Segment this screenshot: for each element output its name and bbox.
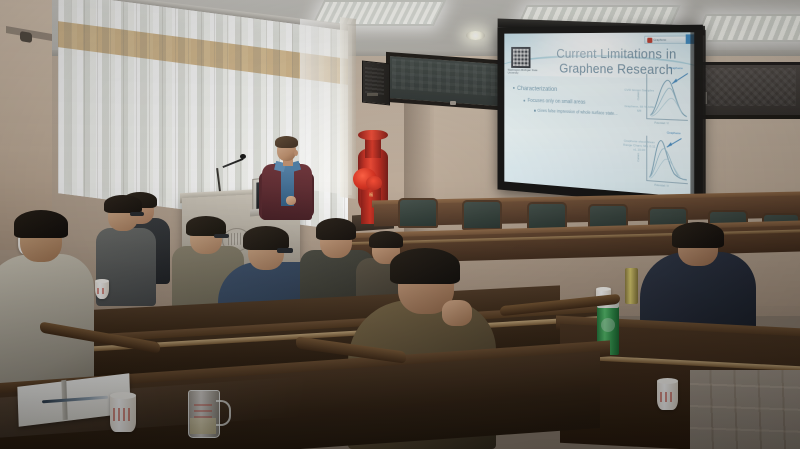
glass-mug-decoration xyxy=(194,404,212,418)
presenter-hair xyxy=(275,136,298,148)
thermos-label xyxy=(601,318,615,332)
glass-mug-contents xyxy=(190,418,216,434)
plot-annotation: Graphene xyxy=(669,66,683,70)
presenter-ear xyxy=(294,150,298,156)
audience-hair xyxy=(390,248,460,284)
audience-hair xyxy=(104,195,142,213)
paper-cup-decoration xyxy=(660,392,675,402)
plot-y-label: Current xyxy=(637,153,640,162)
red-flower-decoration xyxy=(366,176,382,190)
plot-y-label: Current xyxy=(637,91,640,100)
slide-bullet-2: Focuses only on small areas xyxy=(523,98,622,108)
presenter-hand xyxy=(286,196,296,205)
projected-slide: Washington Michigan State University Gra… xyxy=(504,32,694,197)
paper-cup-decoration xyxy=(113,408,132,421)
audience-hair xyxy=(316,218,356,240)
slide-corner-badge: Graphene xyxy=(644,35,688,43)
audience-hair xyxy=(14,210,68,238)
plot-arrow-icon xyxy=(667,72,690,87)
bullet-dot-icon xyxy=(523,99,525,101)
eyeglasses-icon xyxy=(214,234,229,238)
screen-frame-right-edge xyxy=(690,30,705,201)
audience-hair xyxy=(186,216,226,236)
university-crest-icon xyxy=(511,47,530,68)
plot-annotation: Graphene xyxy=(667,130,681,135)
plot-x-label: Potential / V xyxy=(654,184,668,188)
paper-cup-rim xyxy=(110,392,136,399)
lecture-room-photo: Washington Michigan State University Gra… xyxy=(0,0,800,449)
vase-rim xyxy=(358,130,388,140)
floor-tiles xyxy=(690,370,800,449)
voltammogram-plot-top: Graphene Potential / V Current xyxy=(646,74,688,121)
badge-mark-icon xyxy=(647,37,652,42)
empty-chair xyxy=(398,198,438,228)
voltammogram-plot-bottom: Graphene Potential / V Current xyxy=(646,136,688,185)
yellow-bottle xyxy=(625,268,638,304)
empty-chair xyxy=(462,200,502,230)
bullet-dot-icon xyxy=(513,87,515,89)
university-crest-caption: Washington Michigan State University xyxy=(508,69,538,76)
slide-title-line-1: Current Limitations in xyxy=(543,47,692,63)
lectern-emblem-detail xyxy=(228,233,242,246)
paper-cup-rim xyxy=(95,279,109,283)
chalkboard-clip xyxy=(450,101,456,105)
badge-label: Graphene xyxy=(653,38,666,42)
glass-mug-handle xyxy=(216,400,231,426)
slide-bullet-3: Gives false impression of whole surface … xyxy=(534,108,622,117)
audience-hair xyxy=(243,226,289,250)
slide-bullet-list: Characterization Focuses only on small a… xyxy=(513,85,622,117)
paper-cup-rim xyxy=(596,287,611,291)
vase-ribbon-text: 福 xyxy=(364,192,378,198)
bullet-square-icon xyxy=(534,110,536,112)
downlight-icon xyxy=(466,31,485,40)
microphone-icon xyxy=(240,154,246,159)
ceiling-light-panel xyxy=(694,14,800,42)
eyeglasses-icon xyxy=(277,248,293,253)
eyeglasses-icon xyxy=(130,212,144,216)
audience-hair xyxy=(369,231,403,248)
plot-x-label: Potential / V xyxy=(654,122,668,126)
slide-bullet-1: Characterization xyxy=(513,85,622,96)
speaker-grille-icon xyxy=(365,65,384,95)
audience-hair xyxy=(672,222,724,248)
plot-arrow-icon xyxy=(663,137,684,153)
curtain-edge xyxy=(340,17,356,199)
paper-cup-decoration xyxy=(97,288,107,294)
speaker-badge xyxy=(367,93,378,96)
audience-hands xyxy=(442,300,472,326)
wall-fixture xyxy=(20,31,32,43)
paper-cup-rim xyxy=(657,378,678,384)
